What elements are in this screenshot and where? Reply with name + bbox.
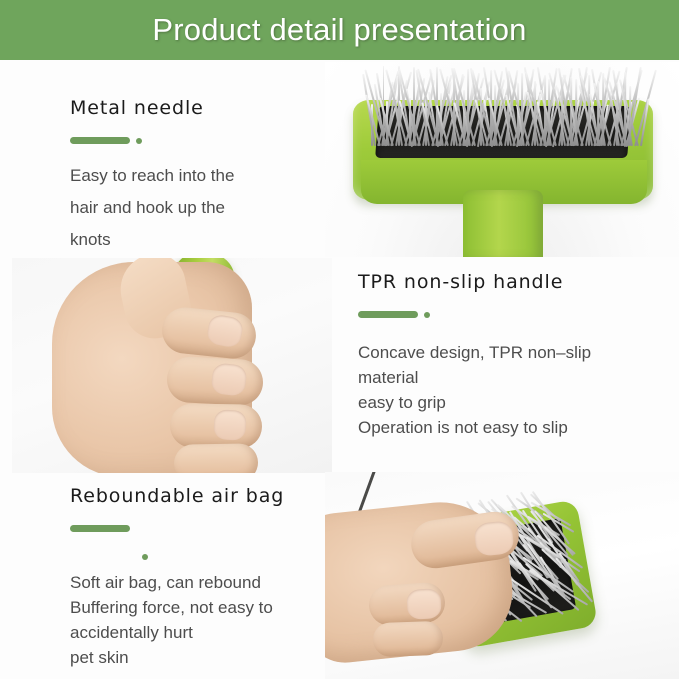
header-banner: Product detail presentation: [0, 0, 679, 60]
in-use-illustration: [325, 472, 679, 679]
photo-brush-in-use: [325, 472, 679, 679]
section-body-tpr-handle: Concave design, TPR non–slip material ea…: [358, 340, 658, 440]
product-detail-page: Product detail presentation Metal needle…: [0, 0, 679, 679]
section-air-bag: Reboundable air bag Soft air bag, can re…: [70, 486, 350, 670]
accent-dot: [424, 312, 430, 318]
accent-bar: [358, 311, 418, 318]
page-title: Product detail presentation: [152, 12, 526, 48]
fingernail-middle: [210, 362, 247, 396]
accent-divider-metal-needle: [70, 132, 320, 150]
finger-little: [174, 443, 259, 473]
section-body-metal-needle: Easy to reach into the hair and hook up …: [70, 160, 320, 256]
section-body-air-bag: Soft air bag, can rebound Buffering forc…: [70, 570, 350, 670]
accent-dot: [142, 554, 148, 560]
section-title-tpr-handle: TPR non-slip handle: [358, 272, 658, 293]
accent-divider-tpr-handle: [358, 306, 658, 324]
photo-hand-grip: [12, 258, 332, 473]
section-title-air-bag: Reboundable air bag: [70, 486, 350, 507]
section-title-metal-needle: Metal needle: [70, 98, 320, 119]
brush-pins: [371, 64, 641, 146]
accent-dot: [136, 138, 142, 144]
finger-ring: [372, 621, 443, 657]
fingernail-ring: [213, 409, 247, 441]
section-metal-needle: Metal needle Easy to reach into the hair…: [70, 98, 320, 256]
brush-neck: [463, 190, 543, 257]
section-tpr-handle: TPR non-slip handle Concave design, TPR …: [358, 272, 658, 440]
accent-bar: [70, 137, 130, 144]
photo-brush-head: [325, 62, 679, 257]
fingernail-middle: [406, 588, 442, 620]
brush-illustration: [325, 62, 679, 257]
grip-illustration: [12, 258, 332, 473]
accent-divider-air-bag: [70, 520, 350, 538]
accent-bar: [70, 525, 130, 532]
